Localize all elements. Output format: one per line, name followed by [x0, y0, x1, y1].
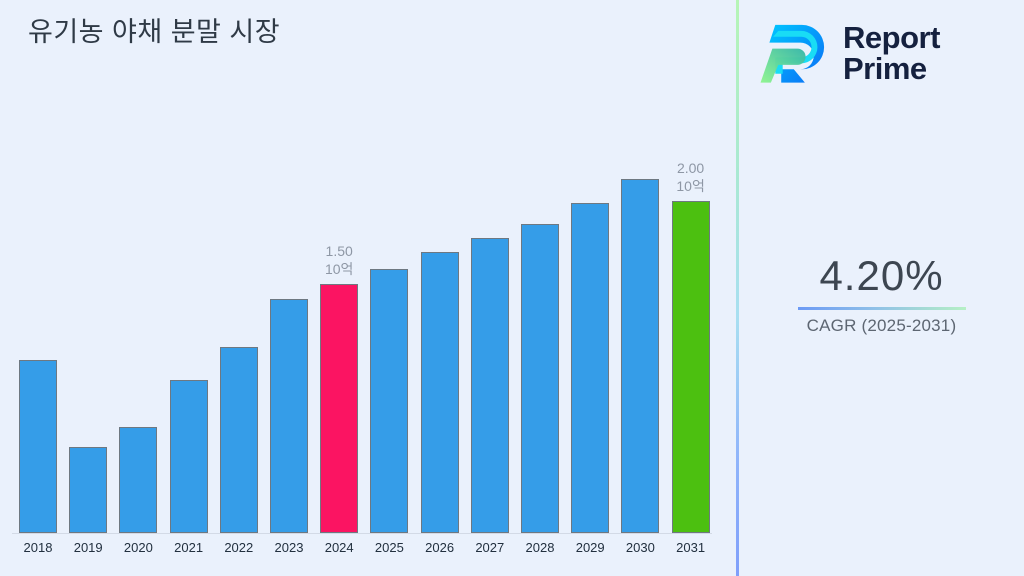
brand-line-1: Report [843, 22, 940, 53]
bar-value-label-2024: 1.5010억 [325, 242, 353, 278]
bar-2020[interactable] [119, 427, 157, 533]
brand-wordmark: Report Prime [843, 22, 940, 84]
x-tick-label-2021: 2021 [170, 540, 208, 555]
x-tick-label-2031: 2031 [672, 540, 710, 555]
x-tick-label-2027: 2027 [471, 540, 509, 555]
x-tick-label-2024: 2024 [320, 540, 358, 555]
bar-chart-plot-area: 2018201920202021202220231.5010억202420252… [0, 0, 737, 576]
side-panel: Report Prime 4.20% CAGR (2025-2031) [739, 0, 1024, 576]
brand-logo: Report Prime [759, 12, 1009, 94]
x-tick-label-2026: 2026 [421, 540, 459, 555]
bar-2028[interactable] [521, 224, 559, 533]
bar-2025[interactable] [370, 269, 408, 533]
bar-2026[interactable] [421, 252, 459, 533]
bar-value-label-2031: 2.0010억 [676, 159, 704, 195]
cagr-divider-rule [798, 307, 966, 310]
x-axis-line [12, 533, 712, 534]
bar-2023[interactable] [270, 299, 308, 533]
bar-2024[interactable] [320, 284, 358, 533]
x-tick-label-2022: 2022 [220, 540, 258, 555]
x-tick-label-2018: 2018 [19, 540, 57, 555]
x-tick-label-2023: 2023 [270, 540, 308, 555]
brand-line-2: Prime [843, 53, 940, 84]
bar-2018[interactable] [19, 360, 57, 533]
x-tick-label-2029: 2029 [571, 540, 609, 555]
report-prime-logo-icon [759, 19, 833, 87]
bar-2027[interactable] [471, 238, 509, 533]
bar-2019[interactable] [69, 447, 107, 533]
bar-2029[interactable] [571, 203, 609, 533]
chart-panel: 유기농 야채 분말 시장 2018201920202021202220231.5… [0, 0, 737, 576]
cagr-value: 4.20% [739, 252, 1024, 300]
x-tick-label-2020: 2020 [119, 540, 157, 555]
x-tick-label-2030: 2030 [621, 540, 659, 555]
bar-2021[interactable] [170, 380, 208, 533]
bar-2030[interactable] [621, 179, 659, 533]
cagr-caption: CAGR (2025-2031) [739, 316, 1024, 336]
x-tick-label-2019: 2019 [69, 540, 107, 555]
x-tick-label-2028: 2028 [521, 540, 559, 555]
bar-2022[interactable] [220, 347, 258, 533]
x-tick-label-2025: 2025 [370, 540, 408, 555]
bar-2031[interactable] [672, 201, 710, 533]
cagr-block: 4.20% CAGR (2025-2031) [739, 252, 1024, 336]
